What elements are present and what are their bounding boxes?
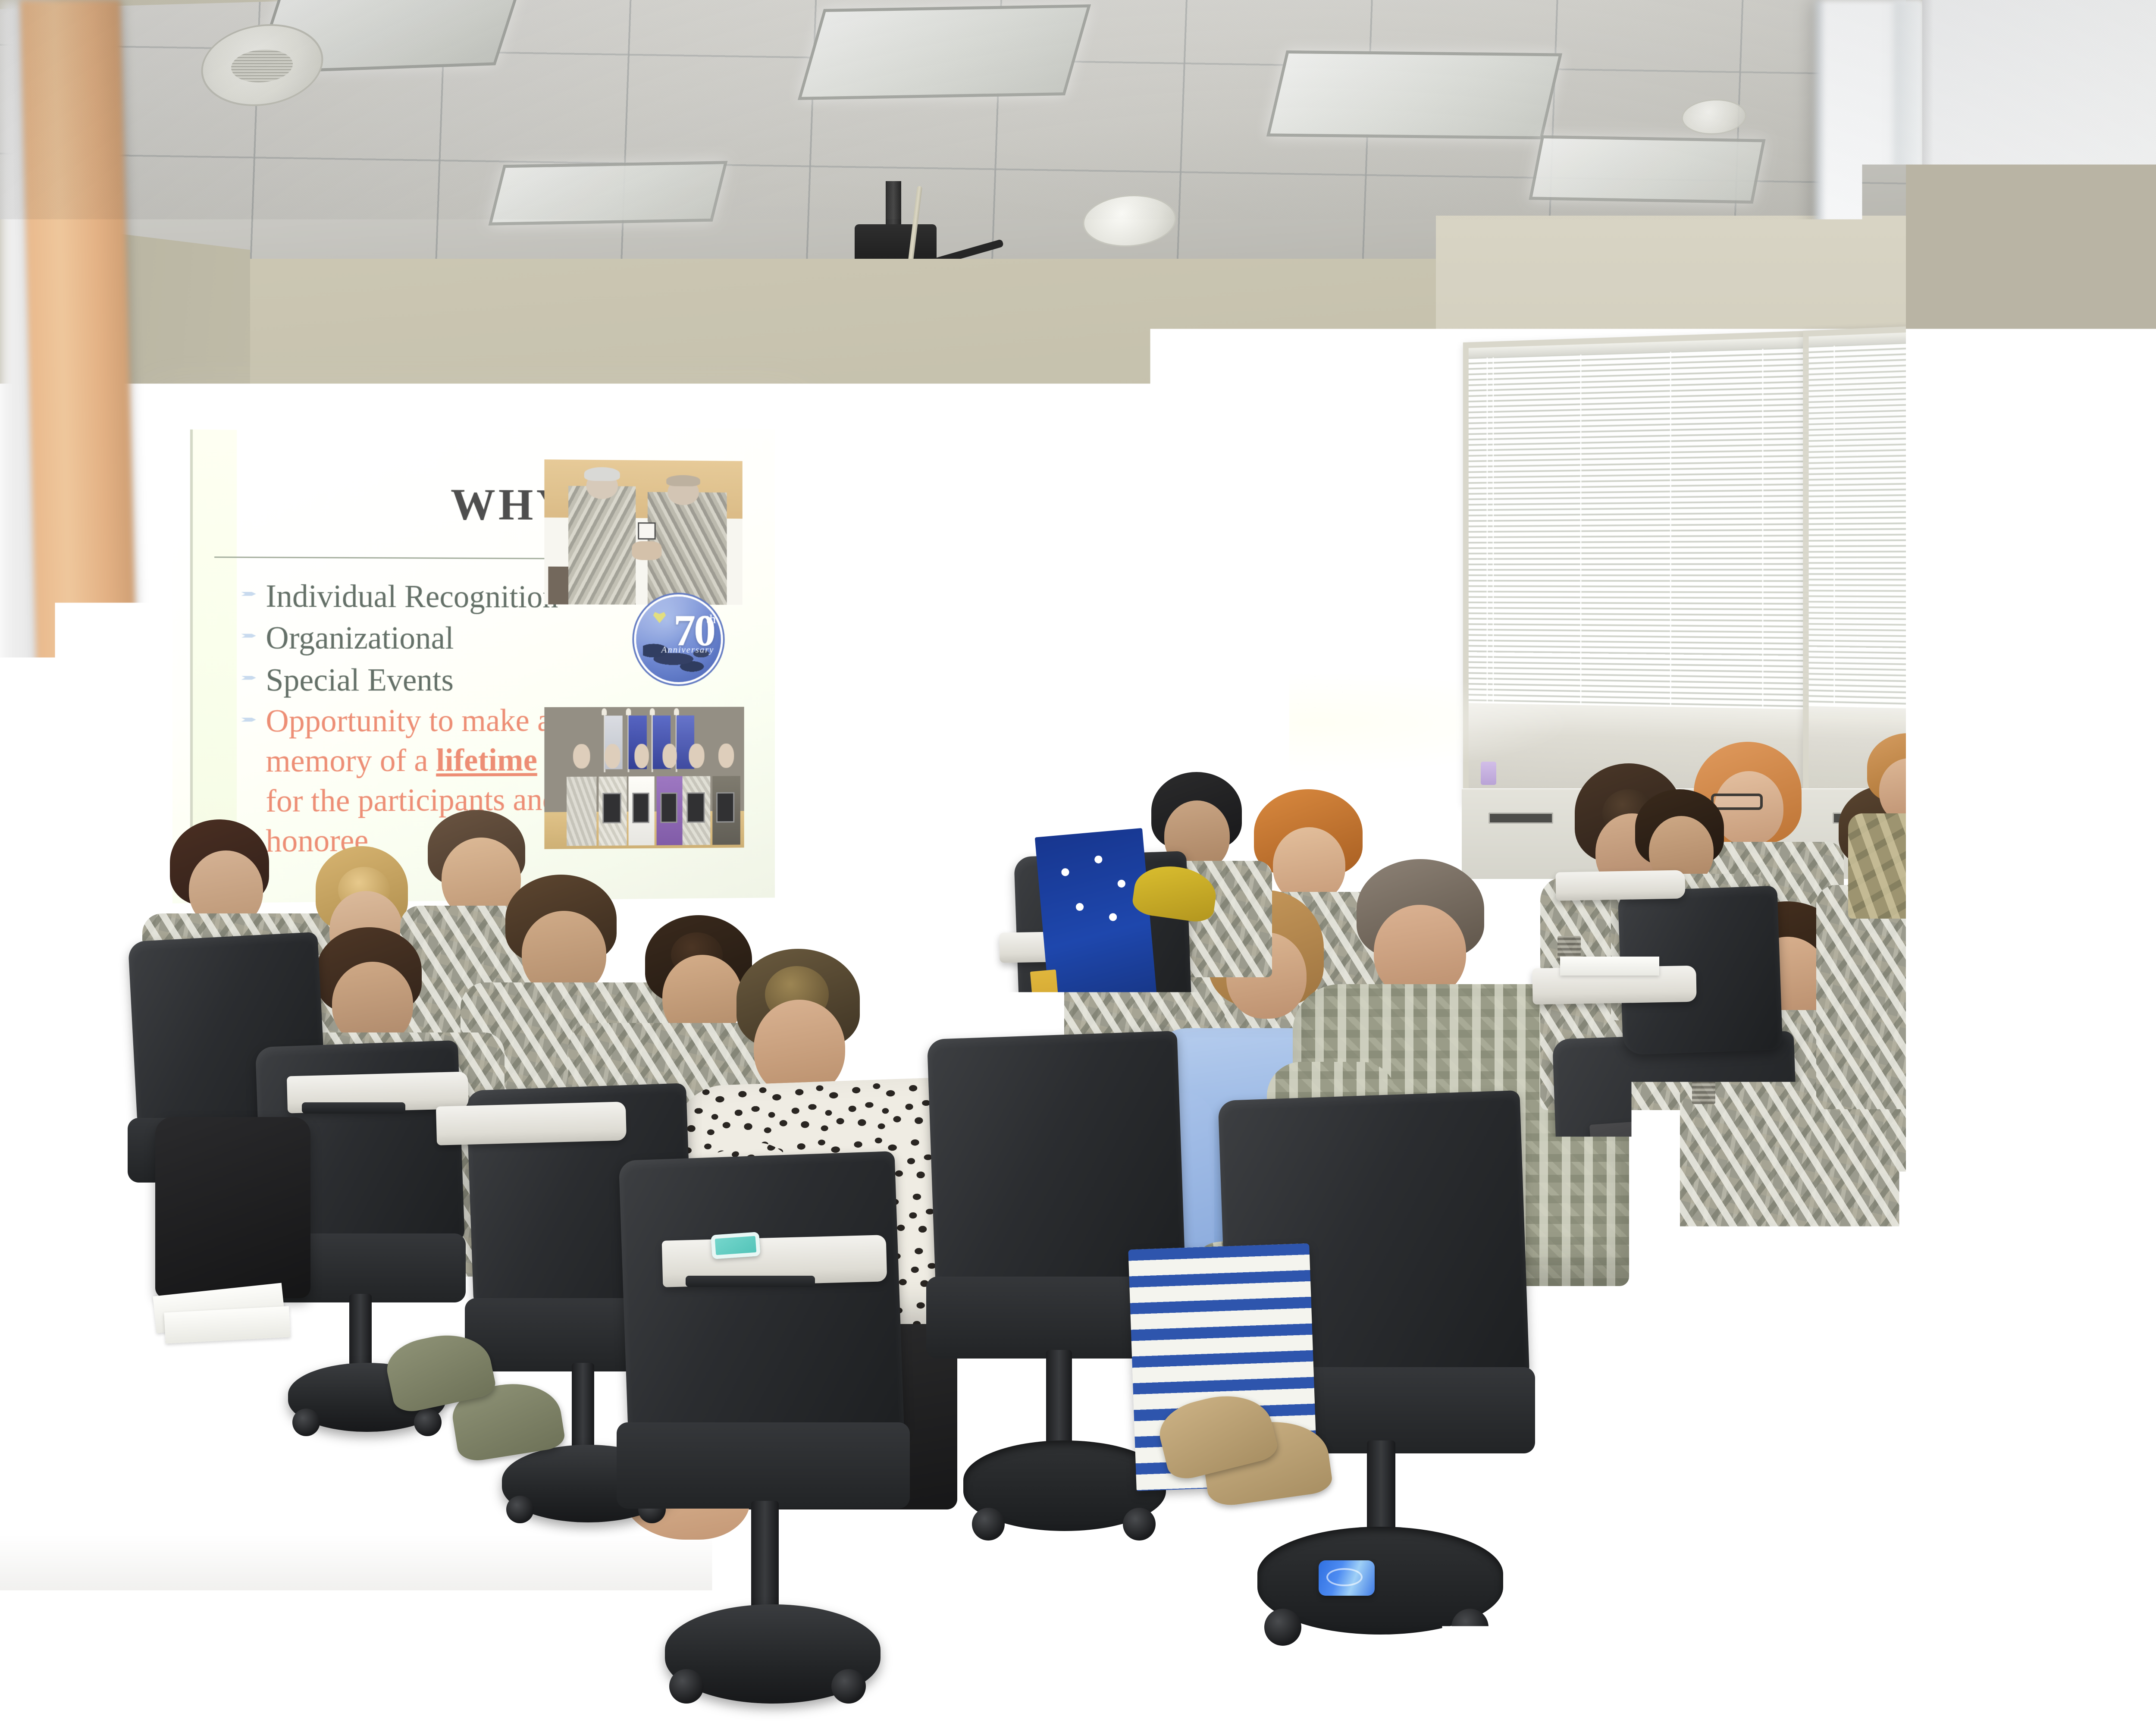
chair-backrest — [619, 1151, 905, 1445]
slide-bullet: Special Events — [238, 659, 568, 701]
photo-head-right — [667, 479, 699, 505]
flag-stars — [1042, 840, 1151, 1010]
photo-person-left — [568, 486, 636, 605]
notepad — [1560, 957, 1659, 976]
radiator-vent-icon — [1489, 813, 1553, 824]
photo-head — [662, 744, 677, 768]
chair-caster — [1264, 1609, 1301, 1646]
photo-plaque — [660, 792, 677, 823]
slide-image-award-handshake — [544, 459, 742, 605]
photo-flag-finial — [650, 709, 655, 715]
photo-plaque — [716, 792, 735, 823]
water-bottle[interactable] — [1319, 1560, 1375, 1596]
photo-flag-finial — [626, 709, 631, 715]
emblem-word: Anniversary — [661, 644, 714, 655]
photo-award-recipient — [629, 744, 655, 845]
emblem-ordinal: th — [706, 612, 716, 627]
hand-sanitizer-bottle[interactable] — [1481, 762, 1496, 785]
photo-head — [689, 744, 704, 768]
accent-emphasis: lifetime — [436, 743, 537, 778]
chair-caster — [292, 1409, 320, 1436]
chair-seat — [617, 1422, 910, 1509]
chair-caster — [1598, 1497, 1630, 1528]
troffer-light-icon — [489, 161, 728, 226]
photo-flag-finial — [674, 708, 679, 715]
notepad — [1091, 1056, 1181, 1079]
chair-caster — [414, 1409, 442, 1436]
photo-plaque — [632, 793, 649, 823]
chair-caster — [972, 1508, 1005, 1541]
photo-head — [573, 744, 590, 769]
chair-back-row[interactable] — [1605, 888, 1790, 1130]
projector-mount-pole — [886, 181, 901, 229]
three-ring-binder[interactable] — [1589, 1113, 1765, 1181]
photo-award-recipient — [712, 744, 740, 845]
photo-award-recipient — [683, 744, 711, 845]
door-hinge — [52, 1483, 129, 1585]
slide-anniversary-emblem: 70 th Anniversary — [636, 596, 721, 682]
photo-handshake — [632, 541, 661, 560]
photo-award-recipient — [599, 744, 627, 846]
instructor-marker — [1087, 800, 1121, 831]
troffer-light-icon — [1529, 135, 1765, 204]
troffer-light-icon — [1266, 50, 1562, 139]
photo-medal — [638, 522, 655, 540]
tablet-arm-support — [686, 1276, 815, 1287]
slide-title: WHY — [172, 477, 571, 530]
chair-caster — [831, 1669, 866, 1704]
mobile-phone[interactable] — [711, 1232, 761, 1259]
chair-caster — [1123, 1508, 1156, 1541]
door-jamb-return — [1894, 0, 1923, 1732]
easel-clip-icon — [1179, 642, 1195, 652]
desk-tablet-arm — [1555, 870, 1685, 901]
chair-caster — [506, 1496, 534, 1523]
backpack[interactable] — [155, 1117, 310, 1298]
corridor-wall — [1922, 0, 2156, 1732]
classroom-interior: WHY Individual Recognition Organizationa… — [0, 0, 1906, 1732]
slide-bullet: Organizational — [238, 617, 568, 659]
photo-head-left — [586, 473, 618, 499]
photo-plaque — [686, 792, 705, 823]
chair-caster — [669, 1669, 704, 1704]
classroom-photograph: WHY Individual Recognition Organizationa… — [0, 0, 2156, 1732]
photo-flag-finial — [602, 709, 607, 715]
slide-bullet: Individual Recognition — [238, 575, 568, 618]
papers-on-floor — [164, 1306, 290, 1343]
instructor-hair-top — [1251, 636, 1369, 700]
tablet-arm-support — [302, 1102, 405, 1114]
slide-title-rule — [214, 556, 566, 559]
troffer-light-icon — [798, 4, 1091, 100]
photo-head — [718, 744, 734, 768]
easel-brand-mark — [1141, 648, 1154, 655]
photo-head — [634, 744, 649, 769]
photo-head — [605, 744, 620, 769]
photo-plaque — [602, 793, 621, 823]
desk-tablet-arm — [436, 1101, 627, 1145]
chair-caster — [1451, 1609, 1489, 1646]
chair-caster — [1758, 1665, 1791, 1698]
photo-award-recipient — [657, 744, 683, 845]
